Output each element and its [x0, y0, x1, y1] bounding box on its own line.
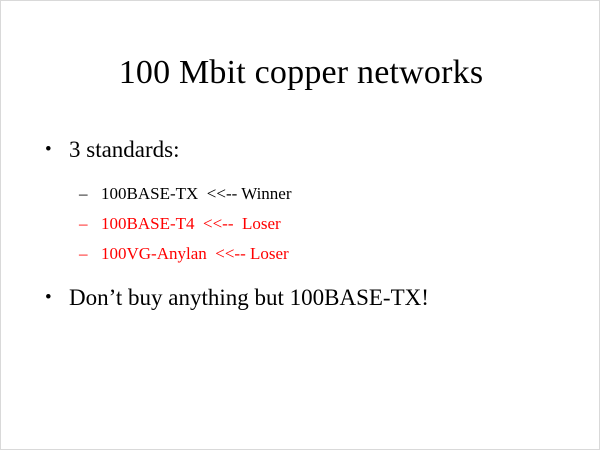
- bullet-dot-icon: •: [45, 135, 52, 165]
- bullet-item-level1: • Don’t buy anything but 100BASE-TX!: [39, 283, 579, 313]
- bullet-item-level2: – 100VG-Anylan <<-- Loser: [79, 239, 579, 269]
- bullet-item-level2: – 100BASE-T4 <<-- Loser: [79, 209, 579, 239]
- slide-body-list: • 3 standards: – 100BASE-TX <<-- Winner …: [39, 135, 579, 313]
- slide-canvas: 100 Mbit copper networks • 3 standards: …: [0, 0, 600, 450]
- bullet-text: 100BASE-T4 <<-- Loser: [101, 214, 281, 233]
- slide-title: 100 Mbit copper networks: [1, 53, 600, 93]
- bullet-dash-icon: –: [79, 239, 88, 269]
- bullet-text: 3 standards:: [69, 137, 180, 162]
- bullet-item-level2: – 100BASE-TX <<-- Winner: [79, 179, 579, 209]
- bullet-item-level1: • 3 standards:: [39, 135, 579, 165]
- bullet-text: 100BASE-TX <<-- Winner: [101, 184, 292, 203]
- bullet-text: Don’t buy anything but 100BASE-TX!: [69, 285, 429, 310]
- bullet-dash-icon: –: [79, 179, 88, 209]
- bullet-text: 100VG-Anylan <<-- Loser: [101, 244, 289, 263]
- spacer: [39, 269, 579, 283]
- bullet-dash-icon: –: [79, 209, 88, 239]
- spacer: [39, 165, 579, 179]
- bullet-dot-icon: •: [45, 283, 52, 313]
